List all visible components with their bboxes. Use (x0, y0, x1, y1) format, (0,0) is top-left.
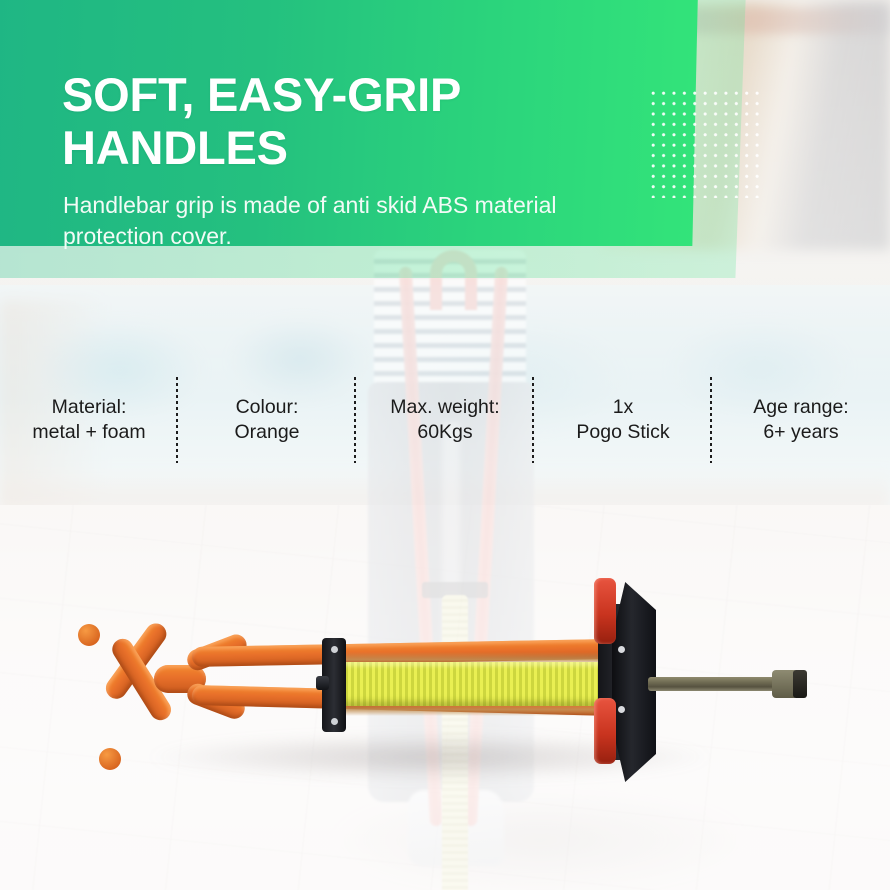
product-image-pogo-stick (0, 520, 890, 890)
spec-value: 6+ years (716, 420, 886, 445)
plate-bolt-icon (618, 646, 625, 653)
spec-value: 60Kgs (360, 420, 530, 445)
spec-value: Pogo Stick (538, 420, 708, 445)
coil-spring (336, 662, 624, 706)
foot-pad-bottom (594, 698, 616, 764)
spec-label: Material: (4, 395, 174, 420)
dot-grid-icon (648, 88, 762, 198)
page-subtitle: Handlebar grip is made of anti skid ABS … (63, 190, 583, 252)
handlebar-lower-grip-cap (99, 748, 121, 770)
spec-value: Orange (182, 420, 352, 445)
product-feature-poster: SOFT, EASY-GRIP HANDLES Handlebar grip i… (0, 0, 890, 890)
clamp-bolt-icon (331, 718, 338, 725)
clamp-adjust-knob (316, 676, 329, 690)
spec-label: Age range: (716, 395, 886, 420)
rubber-tip (793, 670, 807, 698)
plate-bolt-icon (618, 706, 625, 713)
clamp-bolt-icon (331, 646, 338, 653)
foot-pad-top (594, 578, 616, 644)
spec-item-age-range: Age range: 6+ years (712, 395, 890, 445)
spec-label: 1x (538, 395, 708, 420)
page-title: SOFT, EASY-GRIP HANDLES (62, 68, 622, 174)
spec-item-material: Material: metal + foam (0, 395, 178, 445)
spec-item-quantity: 1x Pogo Stick (534, 395, 712, 445)
spec-item-max-weight: Max. weight: 60Kgs (356, 395, 534, 445)
spec-value: metal + foam (4, 420, 174, 445)
spec-label: Max. weight: (360, 395, 530, 420)
spec-item-colour: Colour: Orange (178, 395, 356, 445)
spec-label: Colour: (182, 395, 352, 420)
specs-strip: Material: metal + foam Colour: Orange Ma… (0, 372, 890, 468)
handlebar-upper-grip-cap (78, 624, 100, 646)
